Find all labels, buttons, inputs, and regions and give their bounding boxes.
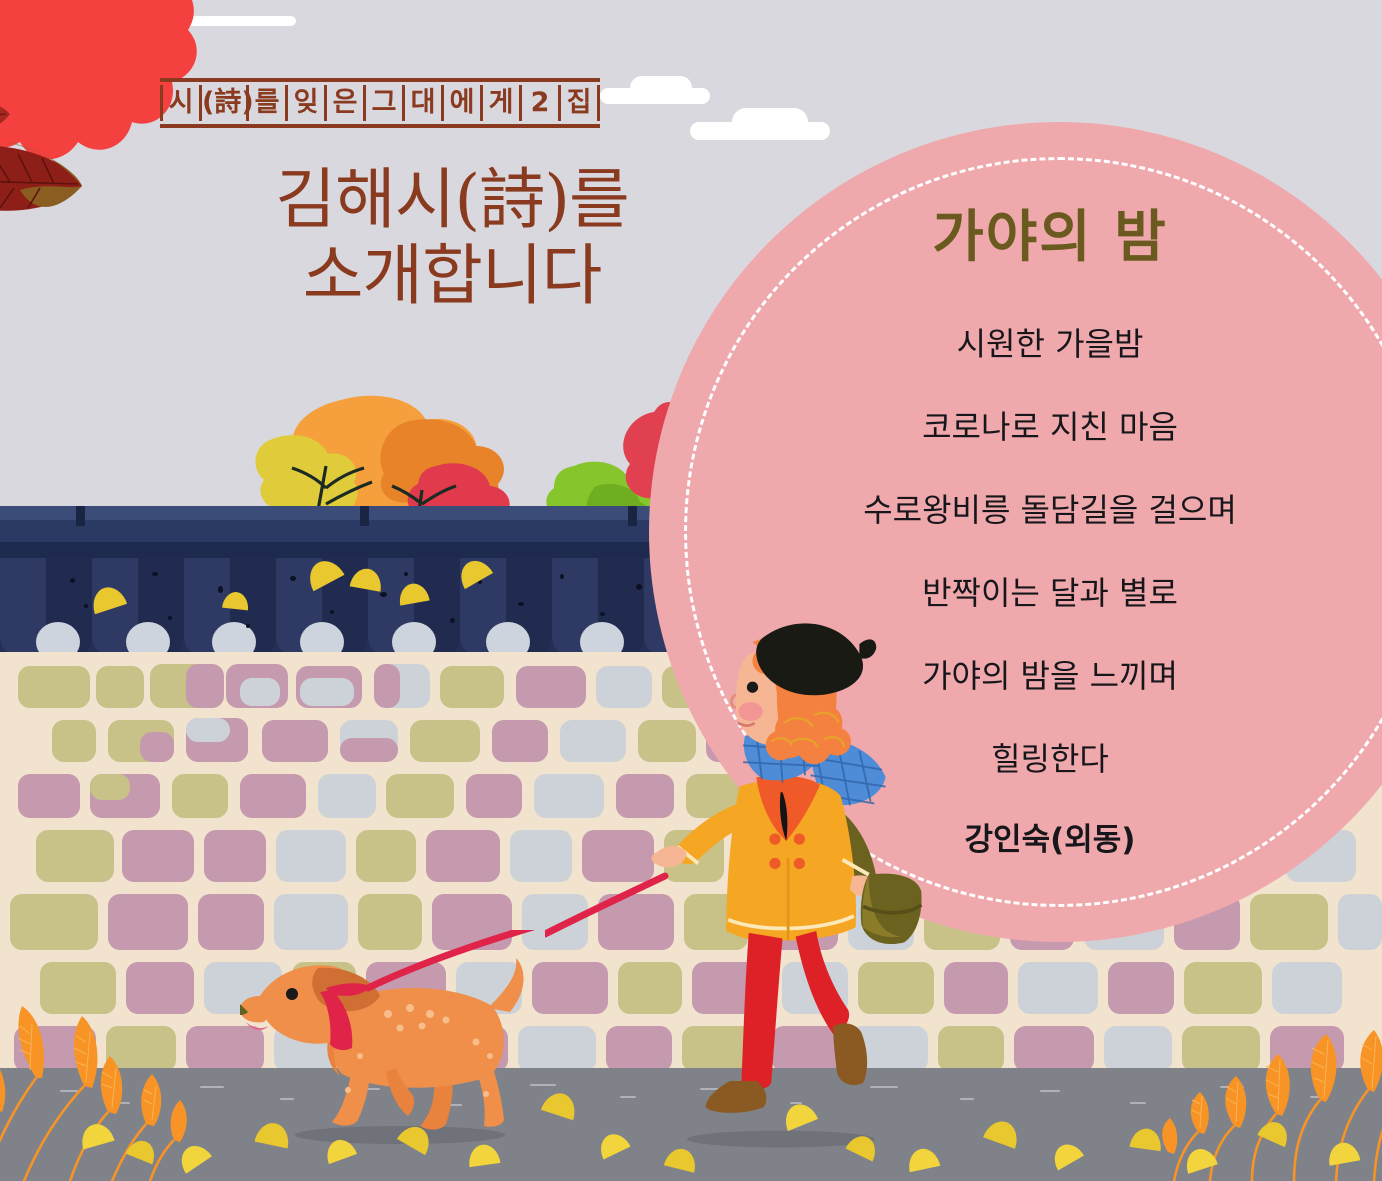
poem-line: 시원한 가을밤 [700,328,1382,360]
poem-title: 가야의 밤 [700,210,1382,266]
poem-line: 수로왕비릉 돌담길을 걸으며 [700,494,1382,526]
badge-cell: 은 [324,85,363,121]
series-badge: 시 (詩) 를 잊 은 그 대 에 게 2 집 [160,78,600,128]
badge-cell: 집 [558,85,600,121]
badge-cell: 그 [363,85,402,121]
coping-notch [360,506,369,526]
badge-cell: 를 [246,85,285,121]
coping-notch [628,506,637,526]
badge-cell: 2 [519,85,558,121]
dog-illustration [240,930,570,1150]
page-title-line2: 소개합니다 [232,238,672,314]
badge-cell: 잊 [285,85,324,121]
poem-line: 코로나로 지친 마음 [700,411,1382,443]
cloud-icon [600,88,710,104]
page-title-line1: 김해시(詩)를 [275,161,628,238]
cloud-icon [690,122,830,140]
page-title: 김해시(詩)를 소개합니다 [232,162,672,314]
poster-root: 시 (詩) 를 잊 은 그 대 에 게 2 집 김해시(詩)를 소개합니다 [0,0,1382,1181]
badge-cell: 게 [480,85,519,121]
badge-cell: (詩) [199,85,246,121]
pampas-grass-left [0,1000,200,1181]
woman-illustration [640,600,940,1170]
badge-cell: 에 [441,85,480,121]
badge-cell: 대 [402,85,441,121]
coping-notch [76,506,85,526]
badge-cell: 시 [160,85,199,121]
